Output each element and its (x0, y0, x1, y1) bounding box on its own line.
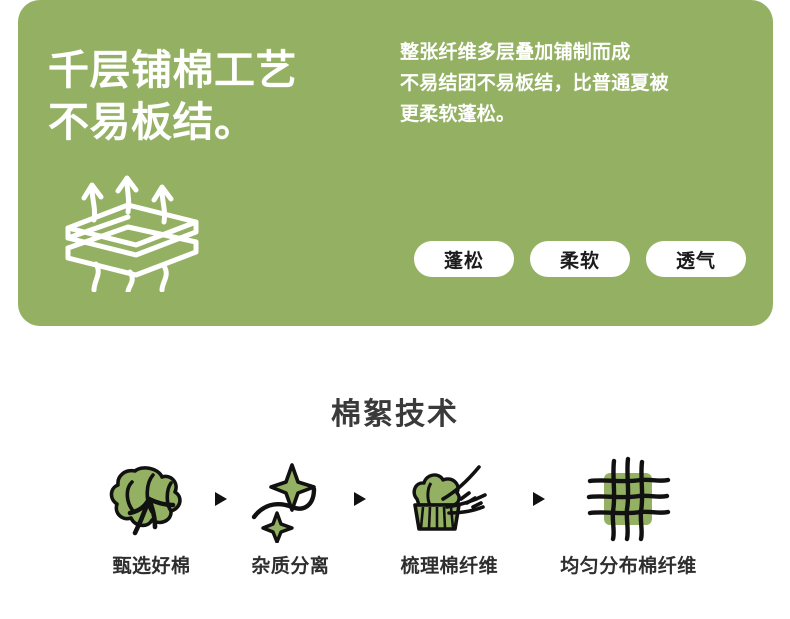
hero-paragraph: 整张纤维多层叠加铺制而成 不易结团不易板结，比普通夏被 更柔软蓬松。 (400, 38, 669, 130)
tag-pill-label: 柔软 (560, 246, 600, 273)
hero-tag-list: 蓬松 柔软 透气 (414, 241, 746, 277)
process-arrow-icon (347, 455, 373, 543)
tag-pill-touqi[interactable]: 透气 (646, 241, 746, 277)
process-arrow-icon (208, 455, 234, 543)
process-step-2: 杂质分离 (234, 455, 347, 578)
hero-card: 千层铺棉工艺 不易板结。 整张纤维多层叠加铺制而成 不易结团不易板结，比普通夏被… (18, 0, 773, 326)
process-arrow-icon (526, 455, 552, 543)
tag-pill-pengsong[interactable]: 蓬松 (414, 241, 514, 277)
process-section-title: 棉絮技术 (0, 389, 790, 433)
sparkle-separation-icon (244, 455, 336, 543)
process-step-list: 甄选好棉 杂质分离 (95, 455, 705, 578)
process-step-label: 杂质分离 (251, 551, 329, 578)
process-step-4: 均匀分布棉纤维 (552, 455, 705, 578)
woven-fiber-grid-icon (582, 455, 674, 543)
process-step-label: 梳理棉纤维 (401, 551, 499, 578)
process-step-3: 梳理棉纤维 (373, 455, 526, 578)
process-step-label: 甄选好棉 (112, 551, 190, 578)
breathable-layers-icon (56, 172, 208, 292)
process-step-label: 均匀分布棉纤维 (560, 551, 697, 578)
tag-pill-label: 透气 (676, 246, 716, 273)
process-step-1: 甄选好棉 (95, 455, 208, 578)
comb-carding-icon (403, 455, 495, 543)
hero-headline: 千层铺棉工艺 不易板结。 (48, 44, 297, 149)
tag-pill-label: 蓬松 (444, 246, 484, 273)
tag-pill-rouruan[interactable]: 柔软 (530, 241, 630, 277)
cotton-boll-icon (105, 455, 197, 543)
